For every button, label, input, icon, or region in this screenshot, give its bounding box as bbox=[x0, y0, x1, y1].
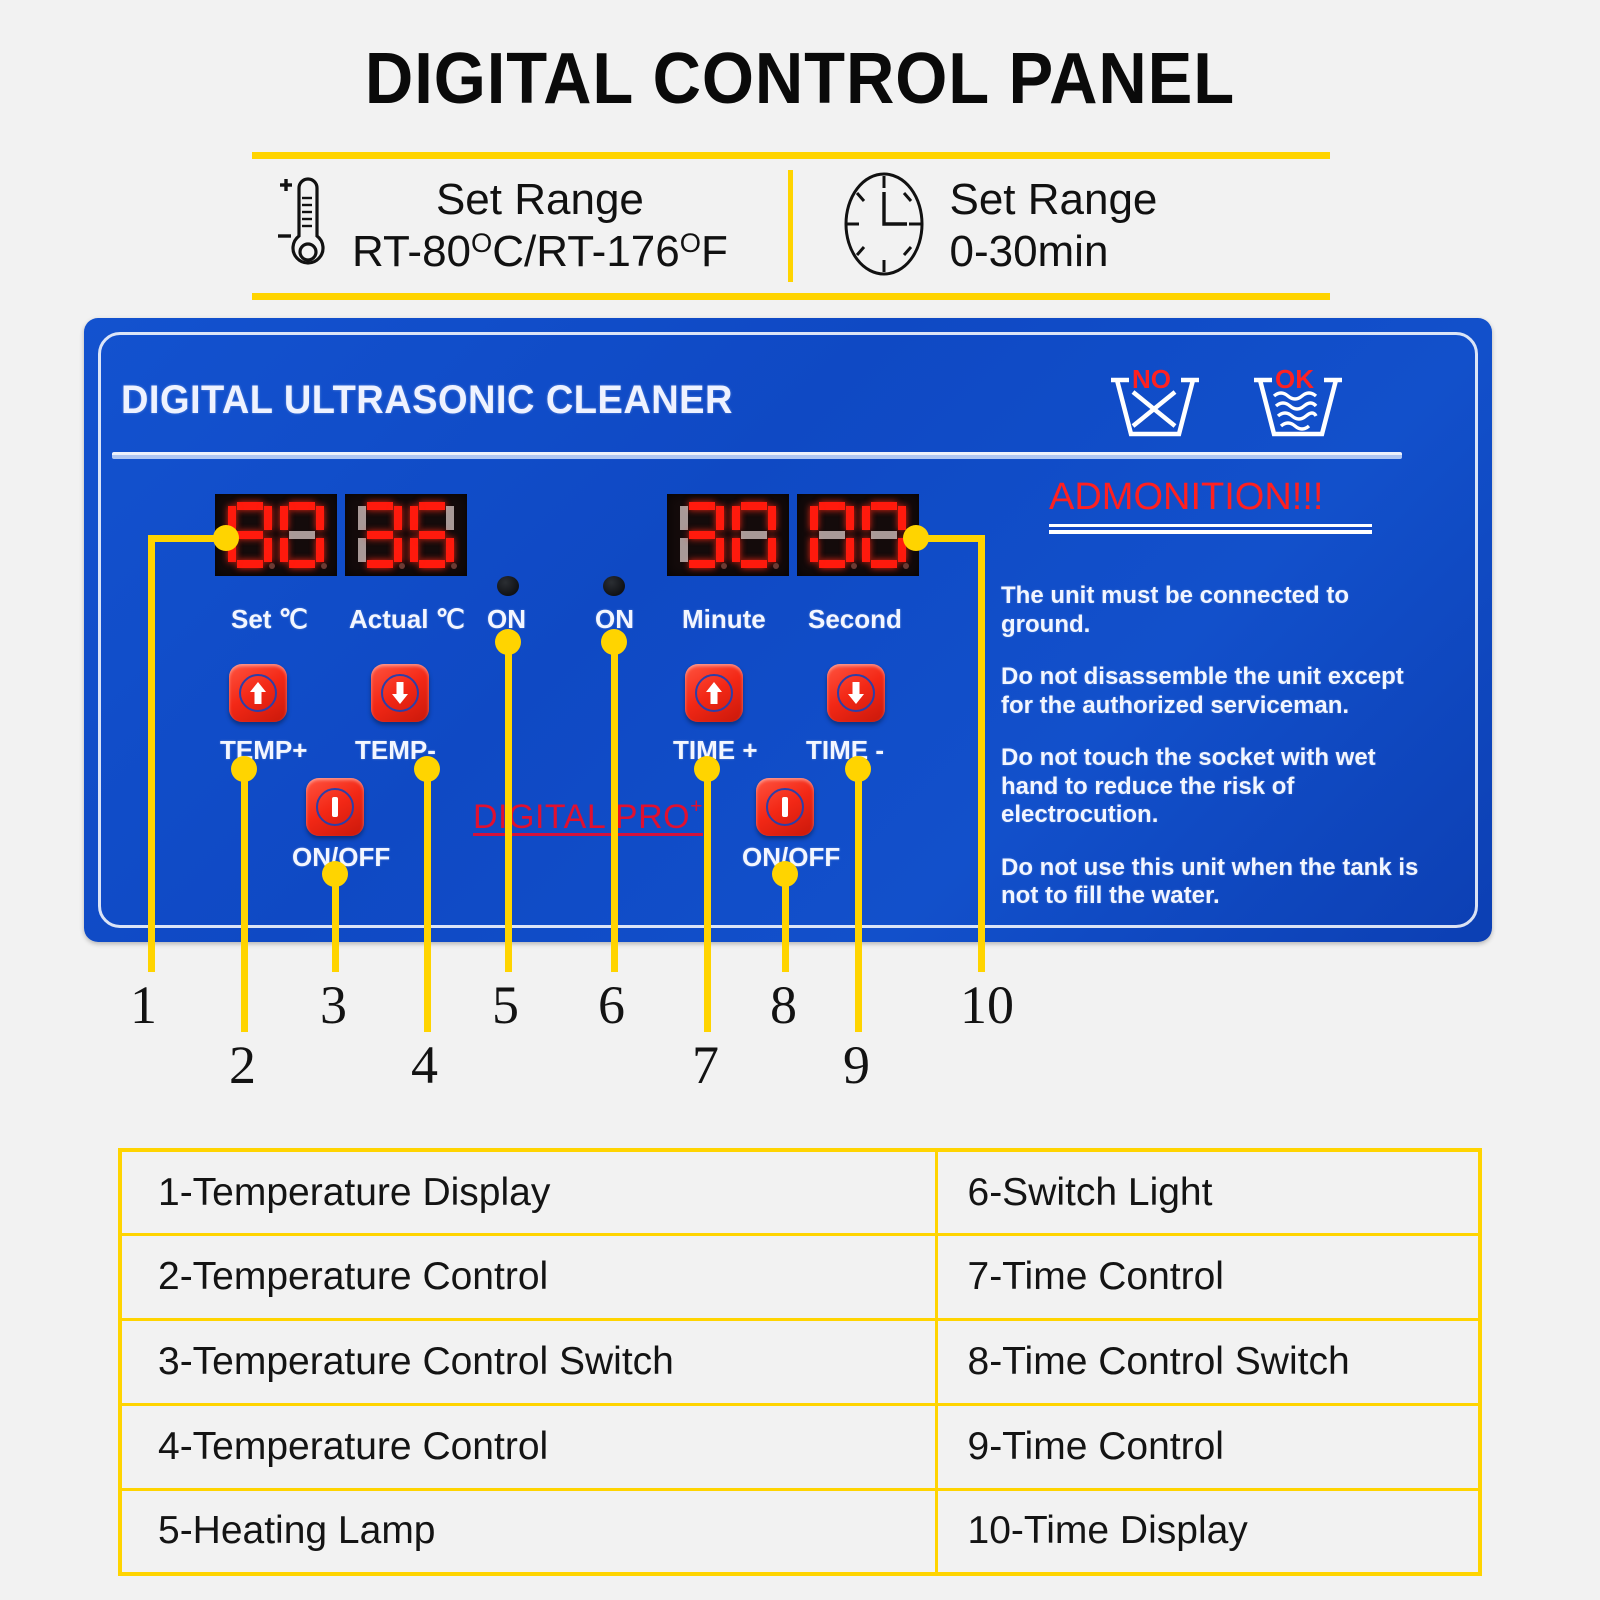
time-minus-label: TIME - bbox=[806, 735, 884, 766]
legend-cell: 9-Time Control bbox=[936, 1404, 1480, 1489]
admonition-item: Do not disassemble the unit except for t… bbox=[1001, 663, 1439, 720]
basket-ok-label: OK bbox=[1275, 364, 1314, 395]
temp-minus-label: TEMP- bbox=[355, 735, 436, 766]
legend-cell: 8-Time Control Switch bbox=[936, 1320, 1480, 1405]
power-icon bbox=[324, 794, 346, 820]
digital-pro-superscript: + bbox=[690, 795, 703, 818]
temp-plus-label: TEMP+ bbox=[220, 735, 307, 766]
set-temperature-display bbox=[215, 494, 337, 576]
callout-number-1: 1 bbox=[130, 978, 157, 1032]
legend-cell: 7-Time Control bbox=[936, 1235, 1480, 1320]
button-ring bbox=[766, 788, 804, 826]
legend-cell: 2-Temperature Control bbox=[120, 1235, 936, 1320]
button-ring bbox=[239, 674, 277, 712]
time-plus-label: TIME + bbox=[673, 735, 758, 766]
digital-pro-text: DIGITAL PRO bbox=[473, 798, 690, 836]
switch-light-label: ON bbox=[595, 604, 634, 635]
switch-light-led bbox=[603, 576, 625, 596]
arrow-down-icon bbox=[389, 680, 411, 706]
button-ring bbox=[316, 788, 354, 826]
admonition-list: The unit must be connected to ground. Do… bbox=[1001, 582, 1439, 935]
power-icon bbox=[774, 794, 796, 820]
spec-time-line1: Set Range bbox=[949, 174, 1157, 226]
legend-cell: 5-Heating Lamp bbox=[120, 1489, 936, 1574]
table-row: 2-Temperature Control 7-Time Control bbox=[120, 1235, 1480, 1320]
heating-lamp-label: ON bbox=[487, 604, 526, 635]
callout-number-9: 9 bbox=[843, 1038, 870, 1092]
seg-digit bbox=[732, 502, 776, 568]
second-label: Second bbox=[808, 604, 902, 635]
thermometer-icon bbox=[274, 172, 336, 281]
admonition-item: Do not touch the socket with wet hand to… bbox=[1001, 744, 1439, 830]
digital-pro-logo: DIGITAL PRO+ bbox=[473, 795, 703, 837]
onoff-temp-label: ON/OFF bbox=[292, 842, 390, 873]
seg-digit bbox=[228, 502, 272, 568]
basket-waves-icon: OK bbox=[1248, 368, 1348, 451]
spec-time-line2: 0-30min bbox=[949, 226, 1157, 278]
table-row: 3-Temperature Control Switch 8-Time Cont… bbox=[120, 1320, 1480, 1405]
legend-table: 1-Temperature Display 6-Switch Light 2-T… bbox=[118, 1148, 1482, 1576]
onoff-time-label: ON/OFF bbox=[742, 842, 840, 873]
heating-lamp-led bbox=[497, 576, 519, 596]
set-temperature-label: Set ℃ bbox=[231, 604, 308, 635]
time-minus-button[interactable] bbox=[827, 664, 885, 722]
button-ring bbox=[695, 674, 733, 712]
callout-number-2: 2 bbox=[229, 1038, 256, 1092]
actual-temperature-display bbox=[345, 494, 467, 576]
seg-digit bbox=[680, 502, 724, 568]
panel-brand-rule bbox=[112, 452, 1402, 459]
seg-digit bbox=[280, 502, 324, 568]
minute-label: Minute bbox=[682, 604, 766, 635]
admonition-rule bbox=[1049, 524, 1372, 534]
temp-plus-button[interactable] bbox=[229, 664, 287, 722]
legend-cell: 10-Time Display bbox=[936, 1489, 1480, 1574]
onoff-time-button[interactable] bbox=[756, 778, 814, 836]
callout-number-6: 6 bbox=[598, 978, 625, 1032]
onoff-temp-button[interactable] bbox=[306, 778, 364, 836]
second-display bbox=[797, 494, 919, 576]
legend-cell: 1-Temperature Display bbox=[120, 1150, 936, 1235]
spec-temperature-line2: RT-80OC/RT-176OF bbox=[352, 226, 728, 278]
callout-number-4: 4 bbox=[411, 1038, 438, 1092]
seg-digit bbox=[810, 502, 854, 568]
arrow-up-icon bbox=[703, 680, 725, 706]
basket-cross-icon: NO bbox=[1105, 368, 1205, 451]
table-row: 1-Temperature Display 6-Switch Light bbox=[120, 1150, 1480, 1235]
time-plus-button[interactable] bbox=[685, 664, 743, 722]
table-row: 5-Heating Lamp 10-Time Display bbox=[120, 1489, 1480, 1574]
temp-minus-button[interactable] bbox=[371, 664, 429, 722]
callout-number-7: 7 bbox=[692, 1038, 719, 1092]
callout-number-8: 8 bbox=[770, 978, 797, 1032]
admonition-item: The unit must be connected to ground. bbox=[1001, 582, 1439, 639]
button-ring bbox=[381, 674, 419, 712]
button-ring bbox=[837, 674, 875, 712]
spec-temperature-line1: Set Range bbox=[352, 174, 728, 226]
spec-time-range: Set Range 0-30min bbox=[793, 159, 1330, 293]
callout-number-3: 3 bbox=[320, 978, 347, 1032]
table-row: 4-Temperature Control 9-Time Control bbox=[120, 1404, 1480, 1489]
spec-temperature-range: Set Range RT-80OC/RT-176OF bbox=[252, 159, 788, 293]
spec-time-text: Set Range 0-30min bbox=[949, 174, 1157, 278]
arrow-down-icon bbox=[845, 680, 867, 706]
seg-digit bbox=[358, 502, 402, 568]
callout-number-5: 5 bbox=[492, 978, 519, 1032]
clock-icon bbox=[835, 170, 933, 283]
admonition-item: Do not use this unit when the tank is no… bbox=[1001, 854, 1439, 911]
seg-digit bbox=[410, 502, 454, 568]
legend-cell: 4-Temperature Control bbox=[120, 1404, 936, 1489]
spec-temperature-text: Set Range RT-80OC/RT-176OF bbox=[352, 174, 728, 278]
spec-range-bar: Set Range RT-80OC/RT-176OF bbox=[252, 152, 1330, 300]
actual-temperature-label: Actual ℃ bbox=[349, 604, 465, 635]
basket-no-label: NO bbox=[1132, 364, 1171, 395]
legend-cell: 3-Temperature Control Switch bbox=[120, 1320, 936, 1405]
seg-digit bbox=[862, 502, 906, 568]
minute-display bbox=[667, 494, 789, 576]
admonition-title: ADMONITION!!! bbox=[1049, 476, 1323, 519]
legend-cell: 6-Switch Light bbox=[936, 1150, 1480, 1235]
callout-number-10: 10 bbox=[960, 978, 1014, 1032]
page-title: DIGITAL CONTROL PANEL bbox=[56, 38, 1544, 120]
panel-brand-title: DIGITAL ULTRASONIC CLEANER bbox=[121, 378, 733, 423]
arrow-up-icon bbox=[247, 680, 269, 706]
digital-pro-rule bbox=[473, 833, 703, 836]
